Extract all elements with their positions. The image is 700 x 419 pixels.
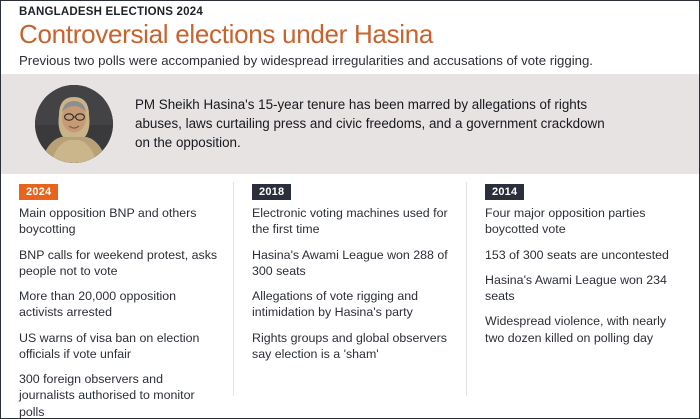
list-item: BNP calls for weekend protest, asks peop… xyxy=(19,247,219,280)
header: BANGLADESH ELECTIONS 2024 Controversial … xyxy=(1,1,699,74)
list-item: Rights groups and global observers say e… xyxy=(252,330,452,363)
list-item: More than 20,000 opposition activists ar… xyxy=(19,288,219,321)
timeline-columns: 2024 Main opposition BNP and others boyc… xyxy=(1,174,699,396)
list-item: Four major opposition parties boycotted … xyxy=(485,205,685,238)
points-list-2014: Four major opposition parties boycotted … xyxy=(485,205,685,346)
points-list-2024: Main opposition BNP and others boycottin… xyxy=(19,205,219,419)
avatar xyxy=(35,85,113,163)
list-item: Allegations of vote rigging and intimida… xyxy=(252,288,452,321)
points-list-2018: Electronic voting machines used for the … xyxy=(252,205,452,362)
list-item: 153 of 300 seats are uncontested xyxy=(485,247,685,263)
list-item: Widespread violence, with nearly two doz… xyxy=(485,313,685,346)
year-badge-2018: 2018 xyxy=(252,184,291,200)
list-item: Hasina's Awami League won 234 seats xyxy=(485,272,685,305)
year-badge-2014: 2014 xyxy=(485,184,524,200)
page-title: Controversial elections under Hasina xyxy=(19,20,681,49)
year-badge-2024: 2024 xyxy=(19,184,58,200)
column-2018: 2018 Electronic voting machines used for… xyxy=(233,182,466,396)
list-item: Hasina's Awami League won 288 of 300 sea… xyxy=(252,247,452,280)
kicker-label: BANGLADESH ELECTIONS 2024 xyxy=(19,6,681,19)
list-item: US warns of visa ban on election officia… xyxy=(19,330,219,363)
column-2024: 2024 Main opposition BNP and others boyc… xyxy=(1,182,233,396)
portrait-illustration xyxy=(35,85,113,163)
infographic-root: BANGLADESH ELECTIONS 2024 Controversial … xyxy=(0,0,700,419)
list-item: Main opposition BNP and others boycottin… xyxy=(19,205,219,238)
column-2014: 2014 Four major opposition parties boyco… xyxy=(466,182,699,396)
list-item: 300 foreign observers and journalists au… xyxy=(19,371,219,419)
list-item: Electronic voting machines used for the … xyxy=(252,205,452,238)
standfirst-text: Previous two polls were accompanied by w… xyxy=(19,52,679,70)
quote-band: PM Sheikh Hasina's 15-year tenure has be… xyxy=(1,74,699,174)
quote-text: PM Sheikh Hasina's 15-year tenure has be… xyxy=(135,95,605,152)
